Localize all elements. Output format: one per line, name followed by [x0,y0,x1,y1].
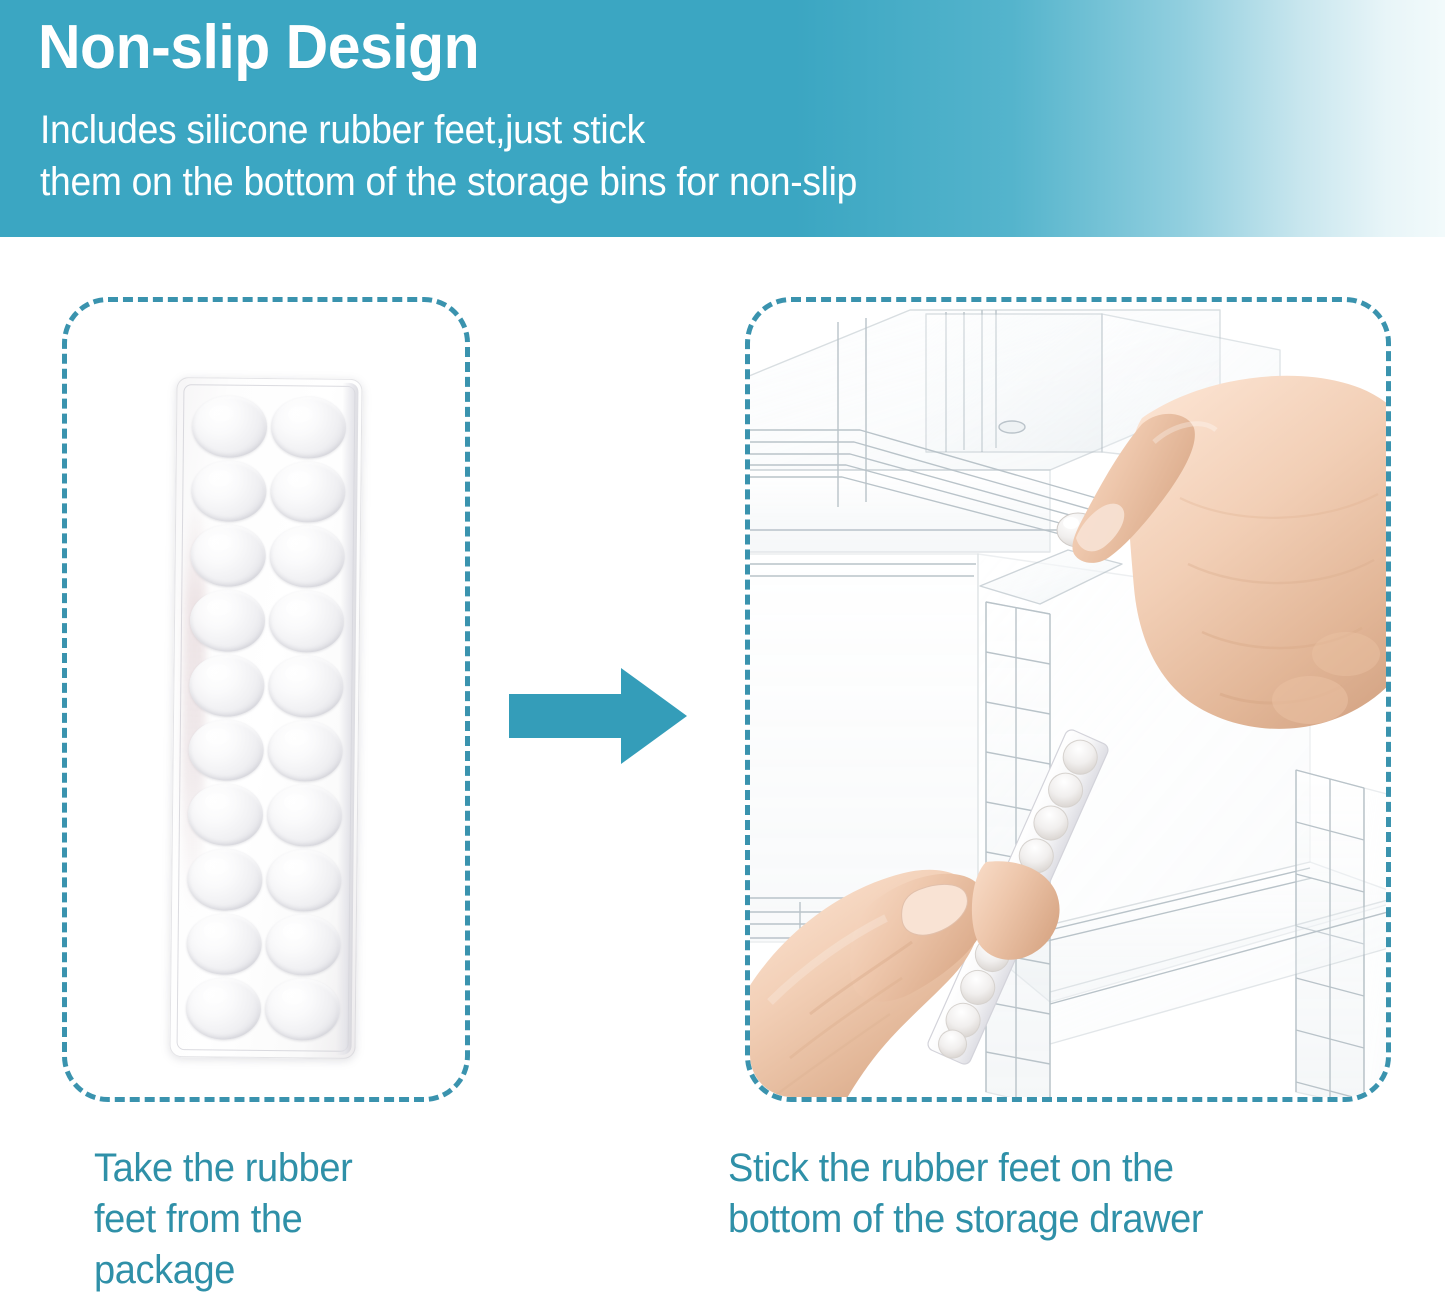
rubber-foot [192,395,268,457]
step-take-caption: Take the rubber feet from the package [94,1143,493,1296]
banner-subtitle: Includes silicone rubber feet,just stick… [40,104,857,208]
rubber-foot [267,720,343,782]
page-title: Non-slip Design [38,8,479,88]
step-take-caption-line-1: Take the rubber [94,1143,493,1194]
step-stick-caption: Stick the rubber feet on the bottom of t… [728,1143,1403,1245]
rubber-foot [186,913,262,975]
rubber-foot [269,590,345,652]
step-take-image [67,302,465,1097]
rubber-foot [187,848,263,910]
rubber-foot [265,914,341,976]
banner-subtitle-line-1: Includes silicone rubber feet,just stick [40,104,857,156]
rubber-foot [186,977,262,1039]
step-stick-caption-line-2: bottom of the storage drawer [728,1194,1403,1245]
rubber-foot [269,525,345,587]
rubber-foot [270,461,346,523]
step-take-caption-line-3: package [94,1245,493,1296]
banner-subtitle-line-2: them on the bottom of the storage bins f… [40,156,857,208]
rubber-foot [191,460,267,522]
step-stick-image [750,302,1386,1097]
step-stick-panel [745,297,1391,1102]
arrow-right-icon [509,666,687,766]
storage-drawer-scene [750,302,1386,1097]
header-banner: Non-slip Design Includes silicone rubber… [0,0,1445,237]
rubber-foot [189,654,265,716]
rubber-foot [266,849,342,911]
rubber-foot [190,589,266,651]
step-take-caption-line-2: feet from the [94,1194,493,1245]
blister-pack [169,377,362,1059]
step-stick-caption-line-1: Stick the rubber feet on the [728,1143,1403,1194]
rubber-foot [188,783,264,845]
rubber-foot [190,525,266,587]
step-take-panel [62,297,470,1102]
rubber-foot [268,655,344,717]
rubber-foot [267,784,343,846]
rubber-feet-grid [184,393,349,1043]
rubber-foot [188,719,264,781]
rubber-foot [271,396,347,458]
rubber-foot [265,978,341,1040]
